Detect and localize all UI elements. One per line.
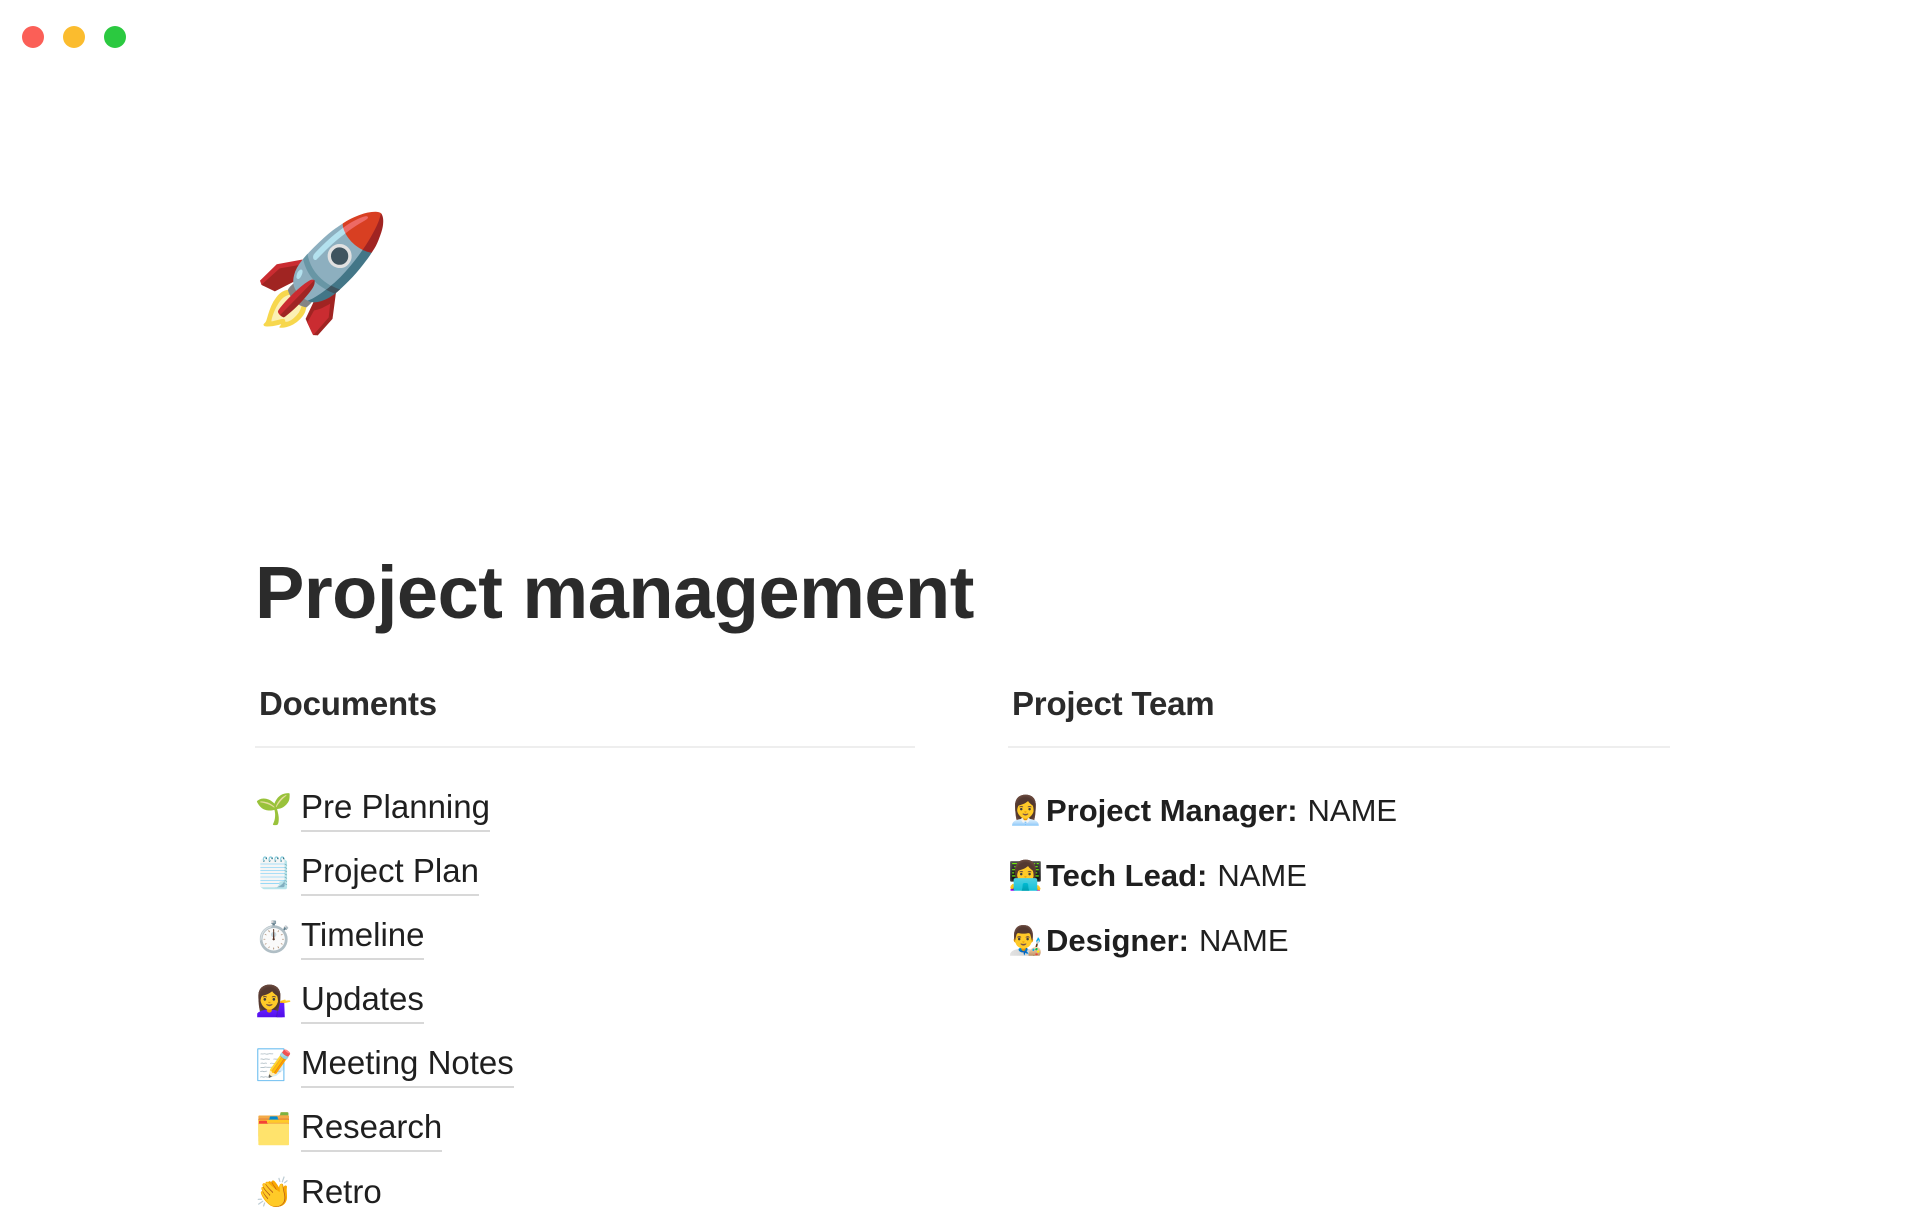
documents-column: Documents 🌱 Pre Planning 🗒️ Project Plan… — [255, 687, 915, 1226]
clapping-hands-emoji: 👏 — [255, 1179, 301, 1209]
woman-office-worker-emoji: 👩‍💼 — [1008, 797, 1046, 825]
project-team-column: Project Team 👩‍💼 Project Manager: NAME 👩… — [1008, 687, 1670, 973]
list-item[interactable]: ⏱️ Timeline — [255, 906, 915, 970]
window-maximize-button[interactable] — [104, 26, 126, 48]
page-content: 🚀 Project management Documents 🌱 Pre Pla… — [0, 62, 1920, 1200]
rocket-emoji[interactable]: 🚀 — [252, 217, 391, 329]
page-title[interactable]: Project management — [255, 556, 974, 630]
project-team-divider — [1008, 746, 1670, 748]
team-member-name-designer: NAME — [1199, 923, 1289, 959]
document-link-project-plan[interactable]: Project Plan — [301, 852, 479, 897]
stopwatch-emoji: ⏱️ — [255, 923, 301, 953]
memo-emoji: 📝 — [255, 1051, 301, 1081]
list-item[interactable]: 💁‍♀️ Updates — [255, 970, 915, 1034]
document-link-timeline[interactable]: Timeline — [301, 916, 424, 961]
list-item[interactable]: 🗂️ Research — [255, 1098, 915, 1162]
team-role-designer: Designer: — [1046, 923, 1189, 959]
team-member-name-project-manager: NAME — [1308, 793, 1398, 829]
team-role-project-manager: Project Manager: — [1046, 793, 1298, 829]
seedling-emoji: 🌱 — [255, 795, 301, 825]
spiral-notepad-emoji: 🗒️ — [255, 859, 301, 889]
woman-technologist-emoji: 👩‍💻 — [1008, 862, 1046, 890]
documents-list: 🌱 Pre Planning 🗒️ Project Plan ⏱️ Timeli… — [255, 778, 915, 1226]
document-link-updates[interactable]: Updates — [301, 980, 424, 1025]
window-traffic-lights — [22, 26, 126, 48]
documents-heading: Documents — [259, 687, 915, 720]
card-index-dividers-emoji: 🗂️ — [255, 1115, 301, 1145]
document-link-pre-planning[interactable]: Pre Planning — [301, 788, 490, 833]
woman-tipping-hand-emoji: 💁‍♀️ — [255, 987, 301, 1017]
list-item[interactable]: 🗒️ Project Plan — [255, 842, 915, 906]
project-team-heading: Project Team — [1012, 687, 1670, 720]
team-member-name-tech-lead: NAME — [1217, 858, 1307, 894]
man-artist-emoji: 👨‍🎨 — [1008, 927, 1046, 955]
team-role-tech-lead: Tech Lead: — [1046, 858, 1207, 894]
list-item: 👩‍💼 Project Manager: NAME — [1008, 778, 1670, 843]
document-link-retro[interactable]: Retro — [301, 1173, 382, 1216]
window-close-button[interactable] — [22, 26, 44, 48]
documents-divider — [255, 746, 915, 748]
list-item: 👩‍💻 Tech Lead: NAME — [1008, 843, 1670, 908]
list-item[interactable]: 👏 Retro — [255, 1162, 915, 1226]
document-link-research[interactable]: Research — [301, 1108, 442, 1153]
window-titlebar — [0, 0, 1920, 62]
list-item: 👨‍🎨 Designer: NAME — [1008, 908, 1670, 973]
window-minimize-button[interactable] — [63, 26, 85, 48]
document-link-meeting-notes[interactable]: Meeting Notes — [301, 1044, 514, 1089]
list-item[interactable]: 🌱 Pre Planning — [255, 778, 915, 842]
list-item[interactable]: 📝 Meeting Notes — [255, 1034, 915, 1098]
project-team-list: 👩‍💼 Project Manager: NAME 👩‍💻 Tech Lead:… — [1008, 778, 1670, 973]
